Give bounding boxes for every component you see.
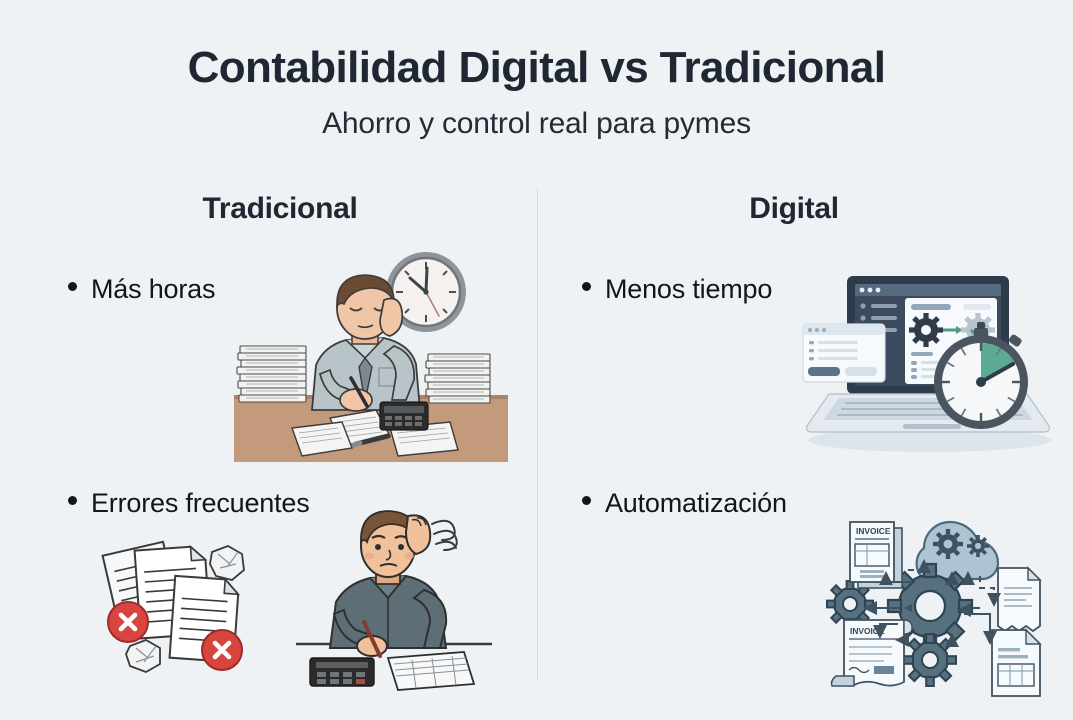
bullet-label: Menos tiempo (605, 274, 772, 305)
crumpled-paper-icon (126, 640, 160, 672)
invoice-scroll-bottom: INVOICE (832, 620, 913, 686)
invoice-card-top: INVOICE (850, 522, 902, 588)
paper-stack-right (425, 354, 490, 403)
bullet-label: Errores frecuentes (91, 488, 310, 519)
report-document-icon (992, 630, 1040, 696)
column-divider (537, 188, 538, 680)
illustration-automation-flow: INVOICE INVOICE (812, 508, 1054, 698)
column-heading-traditional: Tradicional (40, 192, 520, 226)
bullet-traditional-1: Más horas (68, 274, 215, 305)
paper-stack-left (237, 346, 306, 402)
page-subtitle: Ahorro y control real para pymes (0, 107, 1073, 141)
bullet-dot-icon (582, 282, 591, 291)
crumpled-paper-icon (210, 546, 244, 580)
illustration-laptop-stopwatch (795, 262, 1057, 457)
infographic-poster: Contabilidad Digital vs Tradicional Ahor… (0, 0, 1073, 720)
ledger-sheet (388, 652, 474, 690)
bullet-digital-2: Automatización (582, 488, 787, 519)
bullet-traditional-2: Errores frecuentes (68, 488, 310, 519)
receipt-icon (998, 568, 1040, 631)
bullet-digital-1: Menos tiempo (582, 274, 772, 305)
bullet-label: Más horas (91, 274, 215, 305)
bullet-dot-icon (582, 496, 591, 505)
bullet-label: Automatización (605, 488, 787, 519)
illustration-error-documents (88, 520, 270, 690)
confusion-swirl-icon (432, 521, 457, 550)
bullet-dot-icon (68, 282, 77, 291)
error-badge-icon (202, 630, 242, 670)
small-gear-icon (904, 634, 956, 686)
page-title: Contabilidad Digital vs Tradicional (0, 44, 1073, 92)
error-badge-icon (108, 602, 148, 642)
illustration-confused-accountant (288, 502, 500, 692)
invoice-label: INVOICE (856, 526, 891, 536)
illustration-stressed-accountant (234, 250, 508, 462)
calculator-icon (310, 658, 374, 686)
bullet-dot-icon (68, 496, 77, 505)
column-heading-digital: Digital (554, 192, 1034, 226)
floating-window (803, 324, 885, 382)
